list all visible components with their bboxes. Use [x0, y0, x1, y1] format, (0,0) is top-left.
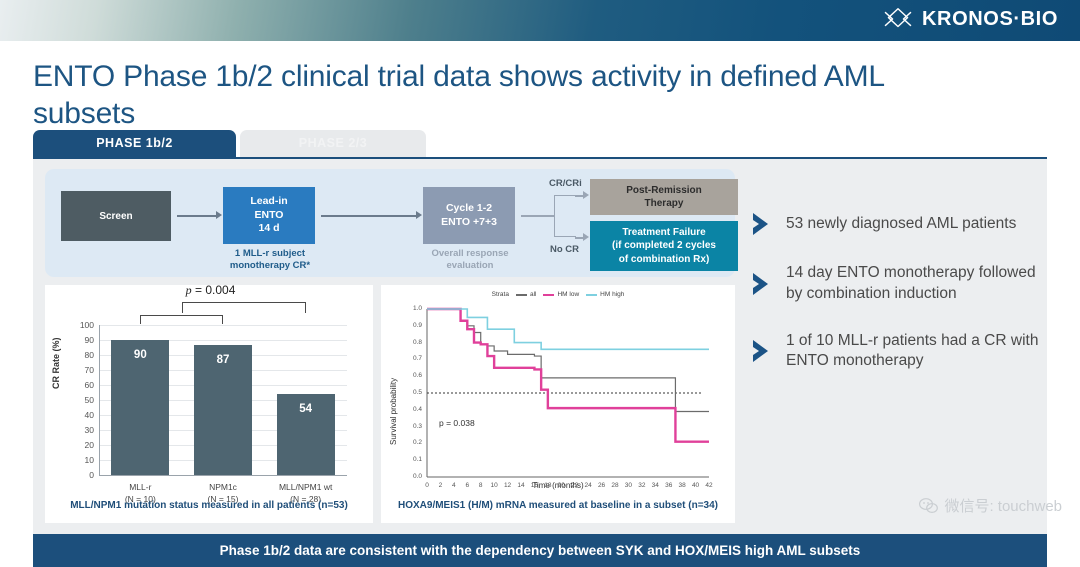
bar-y-tick-label: 10	[68, 455, 94, 465]
flow-box-leadin-label: Lead-in ENTO 14 d	[250, 195, 287, 237]
flow-label-cr-cri: CR/CRi	[549, 178, 582, 189]
kronos-diamond-logo-icon	[883, 6, 913, 32]
bar-y-tick-label: 20	[68, 440, 94, 450]
significance-bracket-outer	[182, 302, 306, 313]
flow-label-no-cr: No CR	[550, 244, 579, 255]
flow-box-post-remission-label: Post-Remission Therapy	[626, 184, 702, 211]
bar-value-label: 54	[277, 403, 335, 415]
flow-branch-bracket	[554, 195, 576, 237]
km-chart-card: Strata all HM low HM high Survival proba…	[381, 285, 735, 523]
flow-arrow-3	[521, 215, 555, 217]
header-band: KRONOS·BIO	[0, 0, 1080, 41]
bar-y-tick-label: 90	[68, 335, 94, 345]
flow-box-leadin: Lead-in ENTO 14 d	[223, 187, 315, 244]
treatment-flow-diagram: Screen Lead-in ENTO 14 d 1 MLL-r subject…	[45, 169, 735, 277]
km-chart-caption: HOXA9/MEIS1 (H/M) mRNA measured at basel…	[381, 500, 735, 511]
tab-phase-1b-2[interactable]: PHASE 1b/2	[33, 130, 236, 158]
bar-value-label: 90	[111, 349, 169, 361]
bar-y-tick-label: 0	[68, 470, 94, 480]
chevron-right-icon	[751, 271, 773, 297]
bar-y-tick-label: 30	[68, 425, 94, 435]
list-item-label: 1 of 10 MLL-r patients had a CR with ENT…	[786, 331, 1041, 373]
wechat-icon	[919, 498, 938, 514]
flow-caption-leadin: 1 MLL-r subject monotherapy CR*	[197, 248, 343, 273]
wechat-watermark-text: 微信号: touchweb	[944, 495, 1062, 516]
flow-arrowhead-bottom	[583, 233, 589, 241]
bar-value-label: 87	[194, 354, 252, 366]
bar-y-axis	[99, 325, 100, 475]
bar-p-value-annotation: p = 0.004	[186, 283, 236, 298]
flow-box-post-remission: Post-Remission Therapy	[590, 179, 738, 215]
significance-bracket-inner	[140, 315, 223, 324]
bar-y-tick-label: 40	[68, 410, 94, 420]
bar-chart-card: CR Rate (%)010203040506070809010090MLL-r…	[45, 285, 373, 523]
list-item-label: 53 newly diagnosed AML patients	[786, 214, 1016, 235]
flow-arrow-1	[177, 215, 217, 217]
bar-chart-caption: MLL/NPM1 mutation status measured in all…	[45, 500, 373, 511]
flow-box-treatment-failure-label: Treatment Failure (if completed 2 cycles…	[612, 226, 716, 266]
tab-bar: PHASE 1b/2 PHASE 2/3	[33, 130, 1047, 158]
flow-box-cycle: Cycle 1-2 ENTO +7+3	[423, 187, 515, 244]
bar-y-tick-label: 80	[68, 350, 94, 360]
flow-arrowhead-1	[216, 211, 222, 219]
list-item: 14 day ENTO monotherapy followed by comb…	[751, 263, 1041, 305]
km-plot-area	[381, 285, 735, 500]
key-points-list: 53 newly diagnosed AML patients 14 day E…	[751, 211, 1041, 398]
flow-arrow-2	[321, 215, 417, 217]
wechat-watermark: 微信号: touchweb	[919, 495, 1062, 516]
chevron-right-icon	[751, 211, 773, 237]
flow-box-treatment-failure: Treatment Failure (if completed 2 cycles…	[590, 221, 738, 271]
tab-phase-2-3[interactable]: PHASE 2/3	[240, 130, 426, 158]
bar-y-tick-label: 60	[68, 380, 94, 390]
chevron-right-icon	[751, 338, 773, 364]
slide-root: KRONOS·BIO ENTO Phase 1b/2 clinical tria…	[0, 0, 1080, 567]
footer-banner: Phase 1b/2 data are consistent with the …	[33, 534, 1047, 567]
bar-gridline	[99, 325, 347, 326]
brand-logo: KRONOS·BIO	[883, 6, 1058, 32]
list-item: 1 of 10 MLL-r patients had a CR with ENT…	[751, 331, 1041, 373]
bar-y-tick-label: 100	[68, 320, 94, 330]
page-title: ENTO Phase 1b/2 clinical trial data show…	[33, 58, 993, 132]
bar-y-tick-label: 70	[68, 365, 94, 375]
content-panel: Screen Lead-in ENTO 14 d 1 MLL-r subject…	[33, 159, 1047, 534]
flow-box-cycle-label: Cycle 1-2 ENTO +7+3	[441, 202, 497, 230]
flow-box-screen: Screen	[61, 191, 171, 241]
bar-y-axis-label: CR Rate (%)	[51, 337, 61, 389]
flow-caption-cycle: Overall response evaluation	[397, 248, 543, 273]
list-item-label: 14 day ENTO monotherapy followed by comb…	[786, 263, 1041, 305]
bar-y-tick-label: 50	[68, 395, 94, 405]
flow-arrowhead-2	[416, 211, 422, 219]
brand-name: KRONOS·BIO	[922, 8, 1058, 31]
flow-arrowhead-top	[583, 191, 589, 199]
list-item: 53 newly diagnosed AML patients	[751, 211, 1041, 237]
bar-x-axis	[99, 475, 347, 476]
